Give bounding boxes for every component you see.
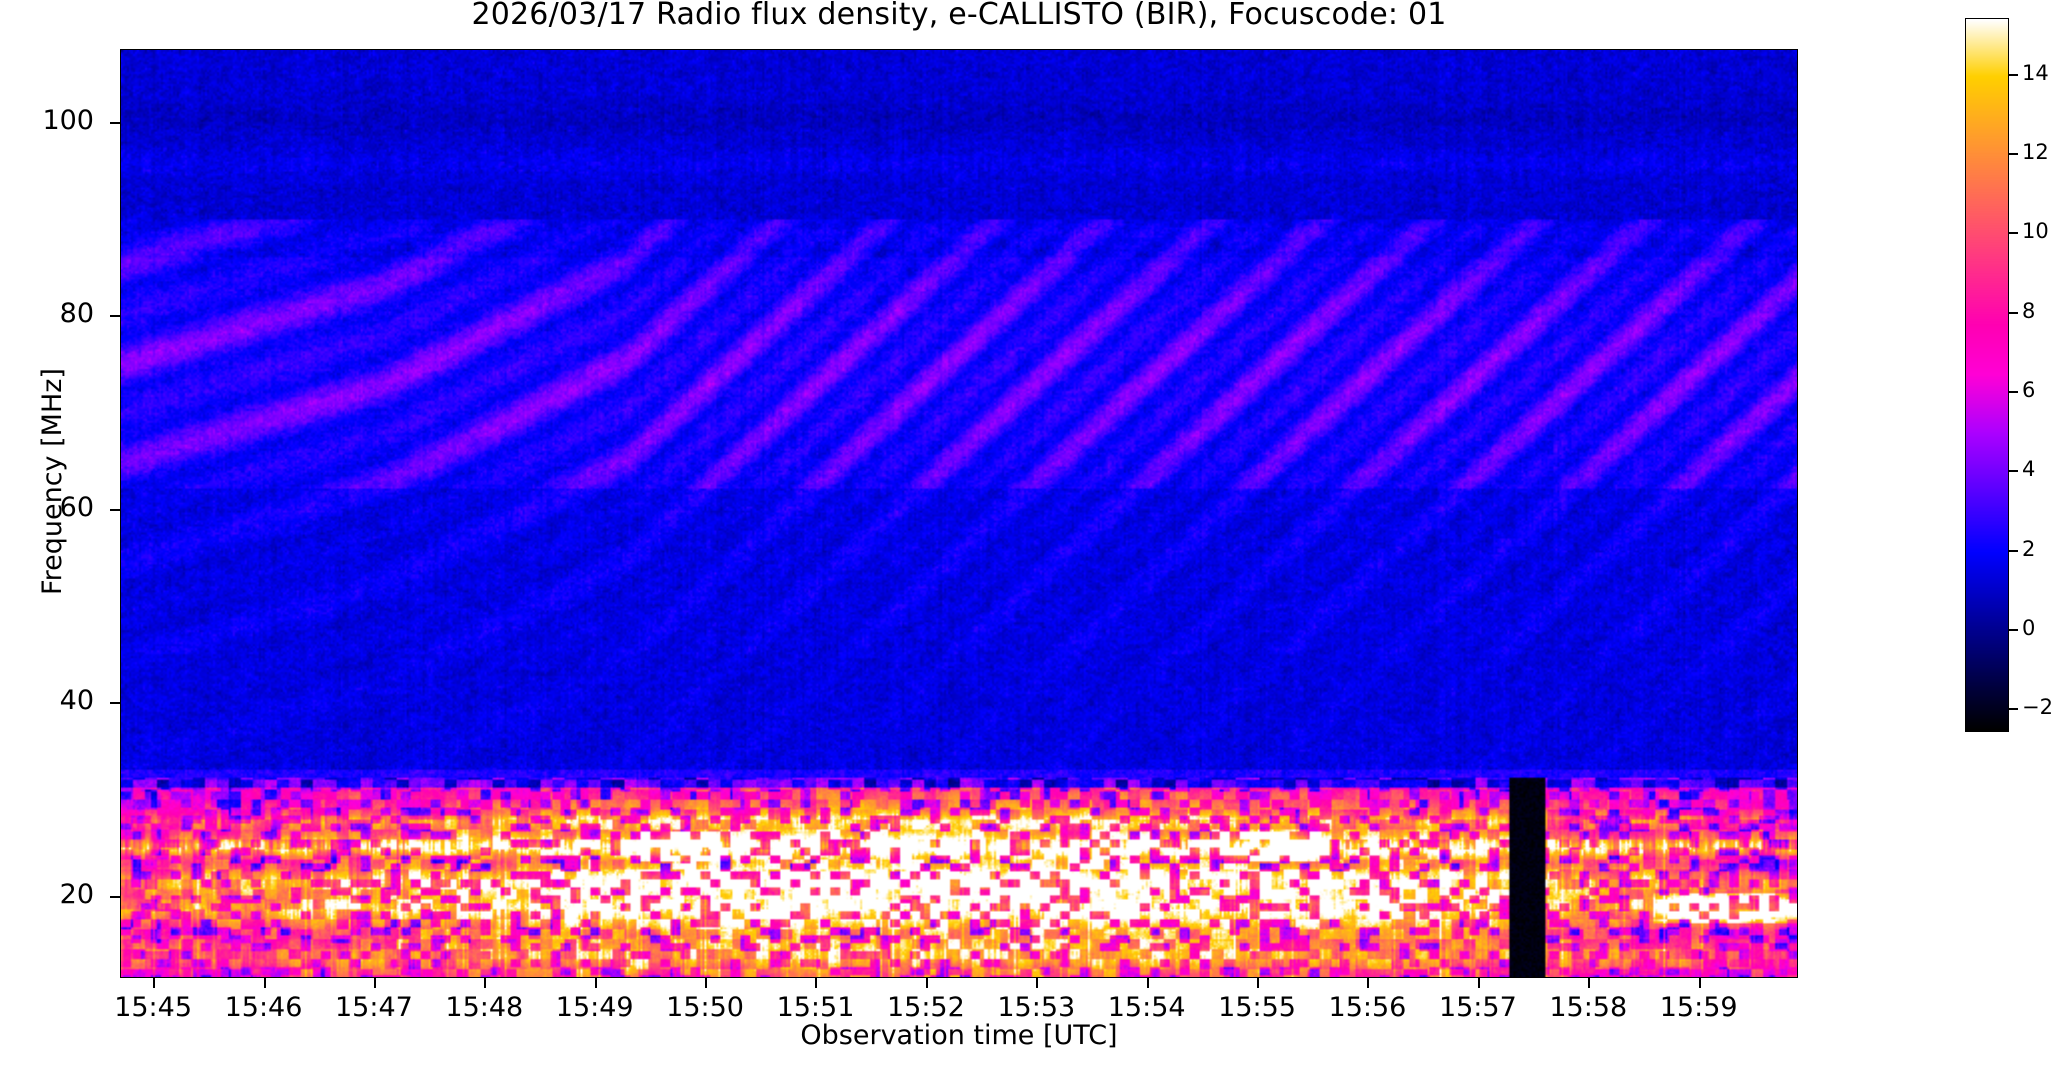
dynamic-spectrum-image — [121, 50, 1797, 977]
x-axis-label: Observation time [UTC] — [120, 1020, 1798, 1051]
y-tick-mark — [110, 896, 120, 898]
colorbar-tick-label: 0 — [2022, 616, 2035, 640]
x-tick-label: 15:57 — [1418, 992, 1538, 1023]
x-tick-mark — [1257, 978, 1259, 988]
colorbar-tick-mark — [2009, 550, 2018, 552]
x-tick-mark — [484, 978, 486, 988]
x-tick-label: 15:48 — [424, 992, 544, 1023]
y-tick-mark — [110, 315, 120, 317]
x-tick-label: 15:53 — [976, 992, 1096, 1023]
x-tick-label: 15:55 — [1197, 992, 1317, 1023]
y-tick-mark — [110, 702, 120, 704]
spectrogram-plot-area — [120, 49, 1798, 978]
x-tick-mark — [1147, 978, 1149, 988]
x-tick-label: 15:45 — [93, 992, 213, 1023]
colorbar-tick-mark — [2009, 232, 2018, 234]
colorbar-tick-mark — [2009, 74, 2018, 76]
y-tick-mark — [110, 509, 120, 511]
x-tick-mark — [264, 978, 266, 988]
colorbar-tick-mark — [2009, 153, 2018, 155]
y-tick-mark — [110, 122, 120, 124]
colorbar: 14121086420−2 — [1965, 18, 2009, 732]
x-tick-label: 15:56 — [1307, 992, 1427, 1023]
x-tick-label: 15:47 — [314, 992, 434, 1023]
colorbar-gradient — [1965, 18, 2009, 732]
x-tick-label: 15:54 — [1087, 992, 1207, 1023]
x-tick-mark — [153, 978, 155, 988]
colorbar-tick-label: 8 — [2022, 299, 2035, 323]
x-tick-mark — [926, 978, 928, 988]
colorbar-tick-label: 12 — [2022, 140, 2049, 164]
x-tick-label: 15:52 — [866, 992, 986, 1023]
colorbar-tick-mark — [2009, 708, 2018, 710]
x-tick-mark — [1699, 978, 1701, 988]
x-tick-label: 15:51 — [755, 992, 875, 1023]
x-tick-mark — [705, 978, 707, 988]
colorbar-tick-label: 10 — [2022, 219, 2049, 243]
x-tick-label: 15:59 — [1639, 992, 1759, 1023]
x-tick-label: 15:50 — [645, 992, 765, 1023]
x-tick-mark — [374, 978, 376, 988]
x-tick-label: 15:58 — [1528, 992, 1648, 1023]
colorbar-tick-label: 2 — [2022, 537, 2035, 561]
x-tick-label: 15:46 — [204, 992, 324, 1023]
x-tick-label: 15:49 — [535, 992, 655, 1023]
colorbar-tick-label: 6 — [2022, 378, 2035, 402]
x-tick-mark — [1478, 978, 1480, 988]
spectrogram-figure: 2026/03/17 Radio flux density, e-CALLIST… — [0, 0, 2066, 1067]
colorbar-tick-label: 4 — [2022, 457, 2035, 481]
colorbar-tick-mark — [2009, 629, 2018, 631]
colorbar-tick-mark — [2009, 312, 2018, 314]
x-tick-mark — [815, 978, 817, 988]
x-tick-mark — [1588, 978, 1590, 988]
x-tick-mark — [1036, 978, 1038, 988]
x-tick-mark — [1367, 978, 1369, 988]
colorbar-tick-label: 14 — [2022, 61, 2049, 85]
y-axis-label: Frequency [MHz] — [37, 17, 68, 946]
page-title: 2026/03/17 Radio flux density, e-CALLIST… — [120, 0, 1798, 32]
colorbar-tick-label: −2 — [2022, 695, 2053, 719]
x-tick-mark — [595, 978, 597, 988]
colorbar-tick-mark — [2009, 470, 2018, 472]
colorbar-tick-mark — [2009, 391, 2018, 393]
